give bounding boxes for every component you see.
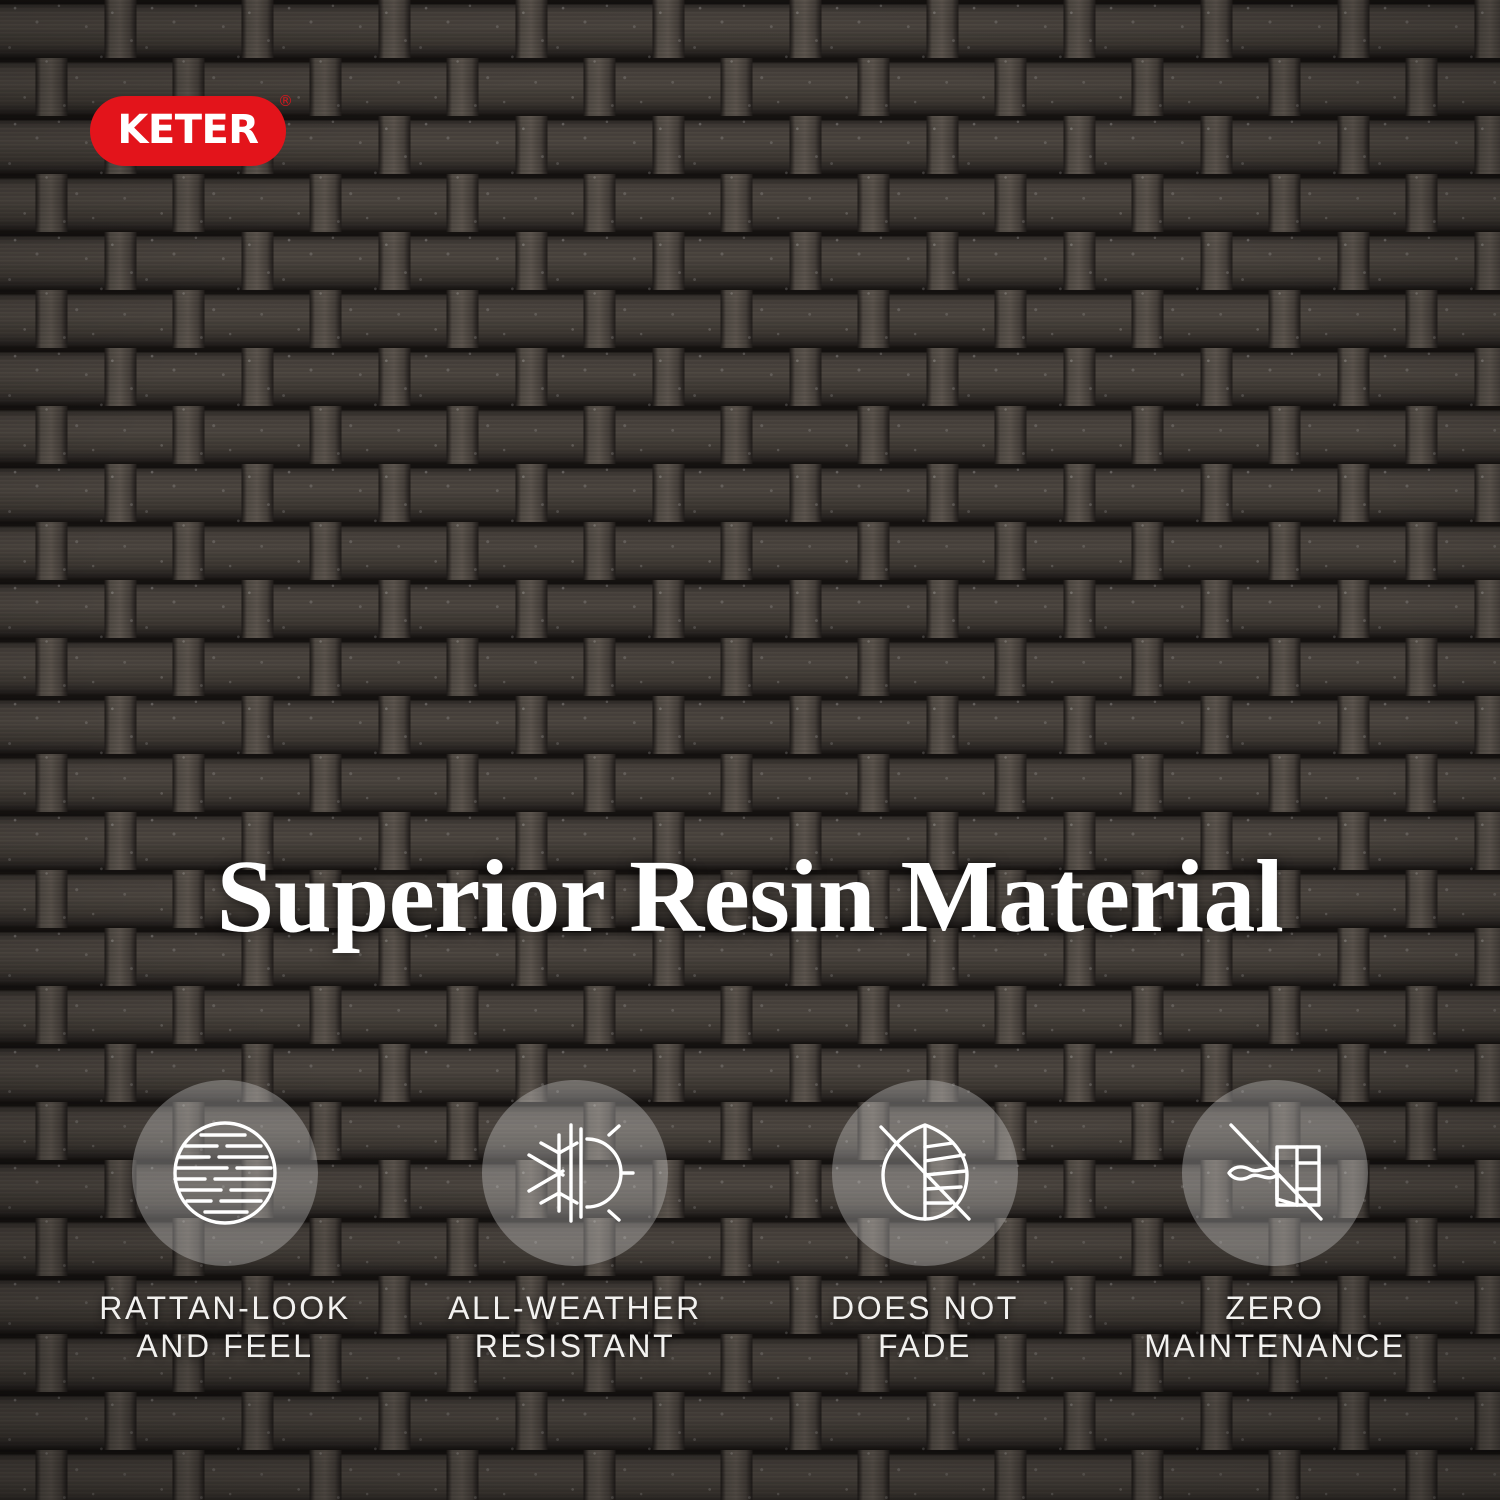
feature-icon-disc bbox=[482, 1080, 668, 1266]
logo-wordmark: KETER bbox=[117, 110, 258, 150]
product-feature-banner: KETER ® Superior Resin Material bbox=[0, 0, 1500, 1500]
page-title: Superior Resin Material bbox=[0, 845, 1500, 949]
logo-pill-shape: KETER bbox=[90, 96, 286, 166]
leaf-no-fade-icon bbox=[865, 1113, 985, 1233]
wood-grain-circle-icon bbox=[165, 1113, 285, 1233]
feature-label: DOES NOT FADE bbox=[831, 1290, 1019, 1366]
feature-item-does-not-fade: DOES NOT FADE bbox=[760, 1080, 1090, 1366]
feature-list: RATTAN-LOOK AND FEEL bbox=[60, 1080, 1440, 1366]
feature-icon-disc bbox=[1182, 1080, 1368, 1266]
feature-icon-disc bbox=[832, 1080, 1018, 1266]
keter-logo[interactable]: KETER ® bbox=[90, 96, 286, 166]
paintbrush-crossed-out-icon bbox=[1215, 1113, 1335, 1233]
feature-label: ZERO MAINTENANCE bbox=[1144, 1290, 1406, 1366]
feature-item-all-weather: ALL-WEATHER RESISTANT bbox=[410, 1080, 740, 1366]
feature-label: ALL-WEATHER RESISTANT bbox=[448, 1290, 702, 1366]
snowflake-sun-icon bbox=[515, 1113, 635, 1233]
feature-item-rattan-look: RATTAN-LOOK AND FEEL bbox=[60, 1080, 390, 1366]
registered-trademark-icon: ® bbox=[278, 94, 293, 109]
feature-label: RATTAN-LOOK AND FEEL bbox=[99, 1290, 350, 1366]
feature-item-zero-maintenance: ZERO MAINTENANCE bbox=[1110, 1080, 1440, 1366]
feature-icon-disc bbox=[132, 1080, 318, 1266]
